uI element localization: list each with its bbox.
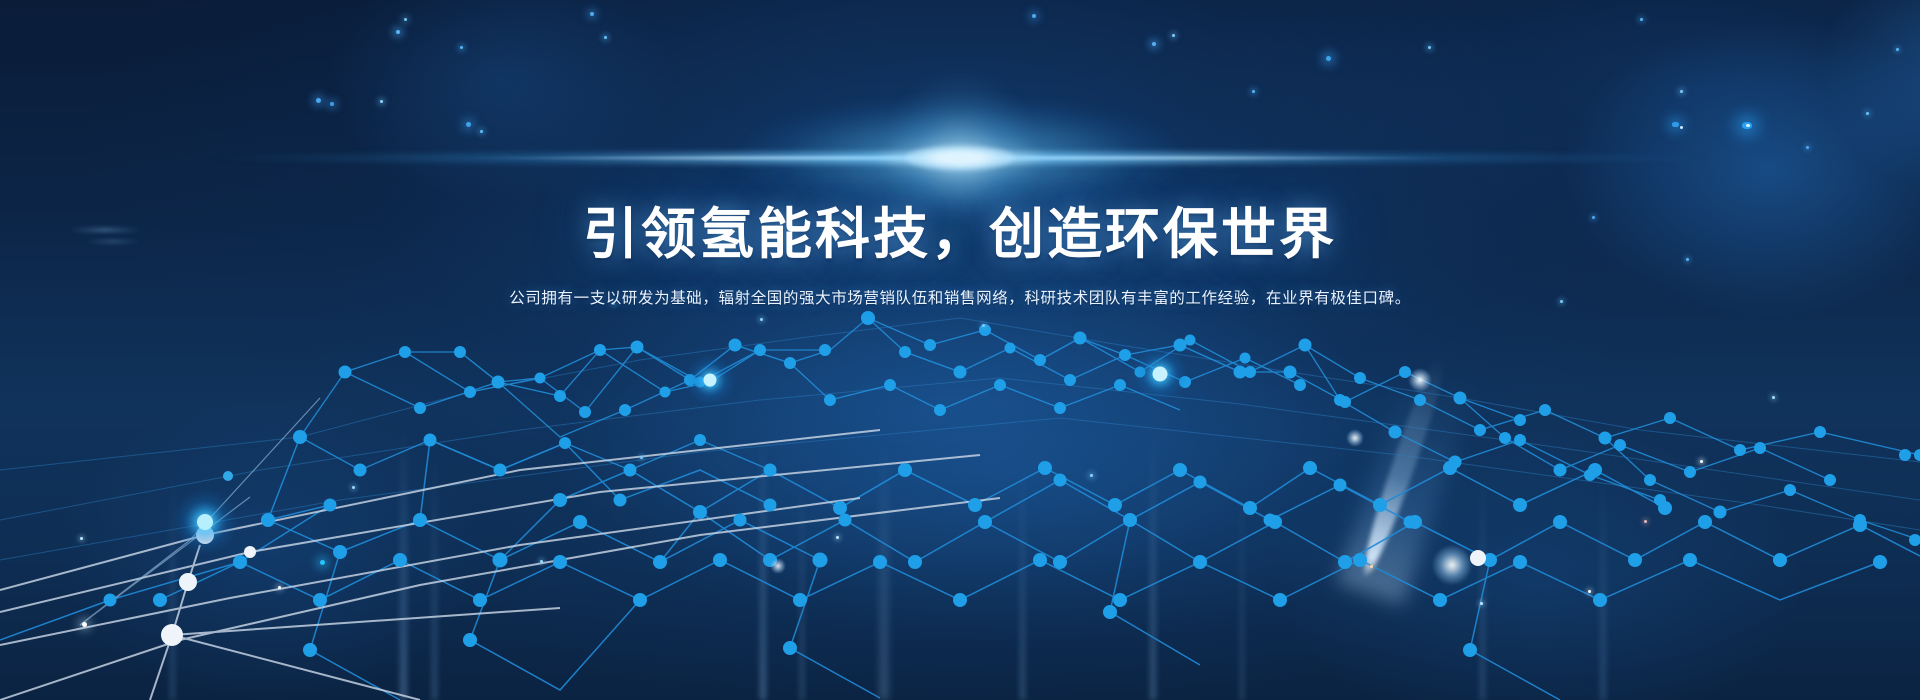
hero-banner: 引领氢能科技，创造环保世界 公司拥有一支以研发为基础，辐射全国的强大市场营销队伍…: [0, 0, 1920, 700]
glow-blob-topright: [1560, 20, 1920, 320]
streak-tip-glow: [1432, 545, 1472, 585]
page-subtitle: 公司拥有一支以研发为基础，辐射全国的强大市场营销队伍和销售网络，科研技术团队有丰…: [0, 287, 1920, 312]
glow-blob-upperleft: [330, 0, 670, 200]
glow-blob-topright-2: [1820, 0, 1920, 200]
flare-vertical-rays: [885, 73, 1035, 243]
glow-blob-center: [560, 300, 1460, 640]
glow-blob-left: [60, 400, 480, 700]
